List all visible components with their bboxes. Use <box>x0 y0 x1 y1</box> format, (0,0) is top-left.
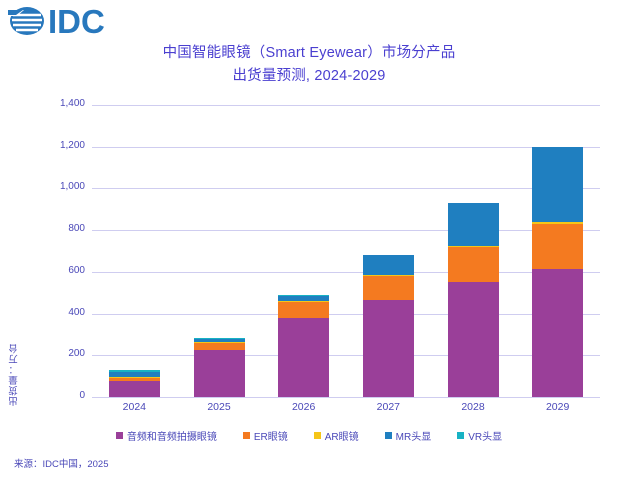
x-tick-label-2029: 2029 <box>523 401 593 413</box>
bar-column-2029[interactable] <box>532 147 583 397</box>
legend-label: VR头显 <box>468 428 502 443</box>
legend-item[interactable]: VR头显 <box>457 428 502 443</box>
legend-item[interactable]: AR眼镜 <box>314 428 359 443</box>
y-tick-label: 1,000 <box>30 181 85 192</box>
x-tick-label-2028: 2028 <box>438 401 508 413</box>
bar-segment[interactable] <box>532 147 583 222</box>
legend-swatch-icon <box>457 432 464 439</box>
legend-swatch-icon <box>116 432 123 439</box>
legend-swatch-icon <box>385 432 392 439</box>
bar-segment[interactable] <box>278 302 329 318</box>
x-tick-label-2026: 2026 <box>269 401 339 413</box>
bar-segment[interactable] <box>363 255 414 275</box>
bar-segment[interactable] <box>448 282 499 397</box>
y-tick-label: 0 <box>30 390 85 401</box>
legend-item[interactable]: ER眼镜 <box>243 428 288 443</box>
x-axis-baseline <box>92 397 600 398</box>
bar-segment[interactable] <box>448 247 499 282</box>
bar-column-2024[interactable] <box>109 370 160 397</box>
bar-segment[interactable] <box>448 203 499 246</box>
legend-label: 音频和音频拍摄眼镜 <box>127 428 217 443</box>
legend-item[interactable]: 音频和音频拍摄眼镜 <box>116 428 217 443</box>
y-tick-label: 400 <box>30 307 85 318</box>
bar-series-container <box>92 105 600 397</box>
bar-segment[interactable] <box>363 300 414 397</box>
chart-legend: 音频和音频拍摄眼镜ER眼镜AR眼镜MR头显VR头显 <box>0 428 618 443</box>
y-tick-label: 1,400 <box>30 98 85 109</box>
legend-swatch-icon <box>243 432 250 439</box>
bar-column-2028[interactable] <box>448 203 499 397</box>
bar-column-2027[interactable] <box>363 255 414 397</box>
x-tick-label-2024: 2024 <box>99 401 169 413</box>
page-title: 中国智能眼镜（Smart Eyewear）市场分产品 出货量预测, 2024-2… <box>0 42 618 88</box>
idc-logo: IDC <box>8 4 138 40</box>
bar-column-2026[interactable] <box>278 295 329 397</box>
bar-segment[interactable] <box>194 343 245 350</box>
legend-item[interactable]: MR头显 <box>385 428 432 443</box>
svg-text:IDC: IDC <box>48 4 105 38</box>
x-tick-label-2027: 2027 <box>353 401 423 413</box>
bar-segment[interactable] <box>532 269 583 397</box>
x-axis-labels: 202420252026202720282029 <box>92 401 600 421</box>
legend-label: MR头显 <box>396 428 432 443</box>
bar-column-2025[interactable] <box>194 338 245 397</box>
bar-segment[interactable] <box>532 224 583 269</box>
source-note: 来源：IDC中国，2025 <box>14 456 109 470</box>
x-tick-label-2025: 2025 <box>184 401 254 413</box>
y-tick-label: 1,200 <box>30 140 85 151</box>
legend-swatch-icon <box>314 432 321 439</box>
bar-segment[interactable] <box>109 381 160 397</box>
bar-segment[interactable] <box>194 350 245 397</box>
legend-label: AR眼镜 <box>325 428 359 443</box>
y-tick-label: 200 <box>30 348 85 359</box>
y-tick-label: 800 <box>30 223 85 234</box>
bar-segment[interactable] <box>363 276 414 300</box>
chart-title-line2: 出货量预测, 2024-2029 <box>0 65 618 88</box>
chart-plot-area: 出货量：万台 02004006008001,0001,2001,400 2024… <box>0 105 618 425</box>
y-tick-label: 600 <box>30 265 85 276</box>
legend-label: ER眼镜 <box>254 428 288 443</box>
y-axis-title: 出货量：万台 <box>8 343 22 406</box>
bar-segment[interactable] <box>278 318 329 397</box>
chart-title-line1: 中国智能眼镜（Smart Eyewear）市场分产品 <box>163 45 456 61</box>
